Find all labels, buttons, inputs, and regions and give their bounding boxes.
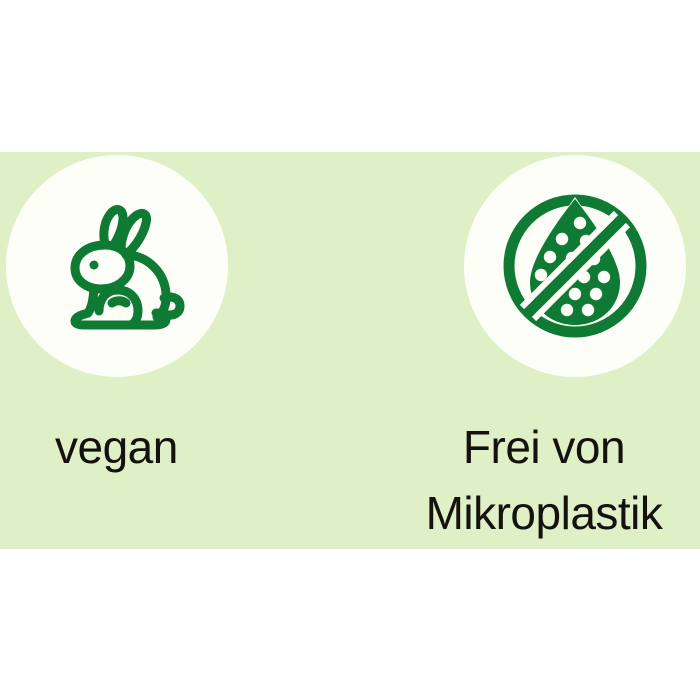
caption-line: vegan — [55, 414, 350, 480]
rabbit-icon — [6, 155, 228, 377]
caption-line: Frei von — [388, 414, 700, 480]
claim-caption-microplastic-free: Frei von Mikroplastik — [350, 414, 700, 546]
no-microplastic-icon — [464, 155, 686, 377]
claim-badge-vegan: vegan — [0, 152, 350, 549]
claim-caption-vegan: vegan — [0, 414, 350, 480]
caption-line: Mikroplastik — [388, 480, 700, 546]
product-claims-banner: vegan — [0, 0, 700, 700]
claim-badge-microplastic-free: Frei von Mikroplastik — [350, 152, 700, 549]
claims-background-band: vegan — [0, 152, 700, 549]
